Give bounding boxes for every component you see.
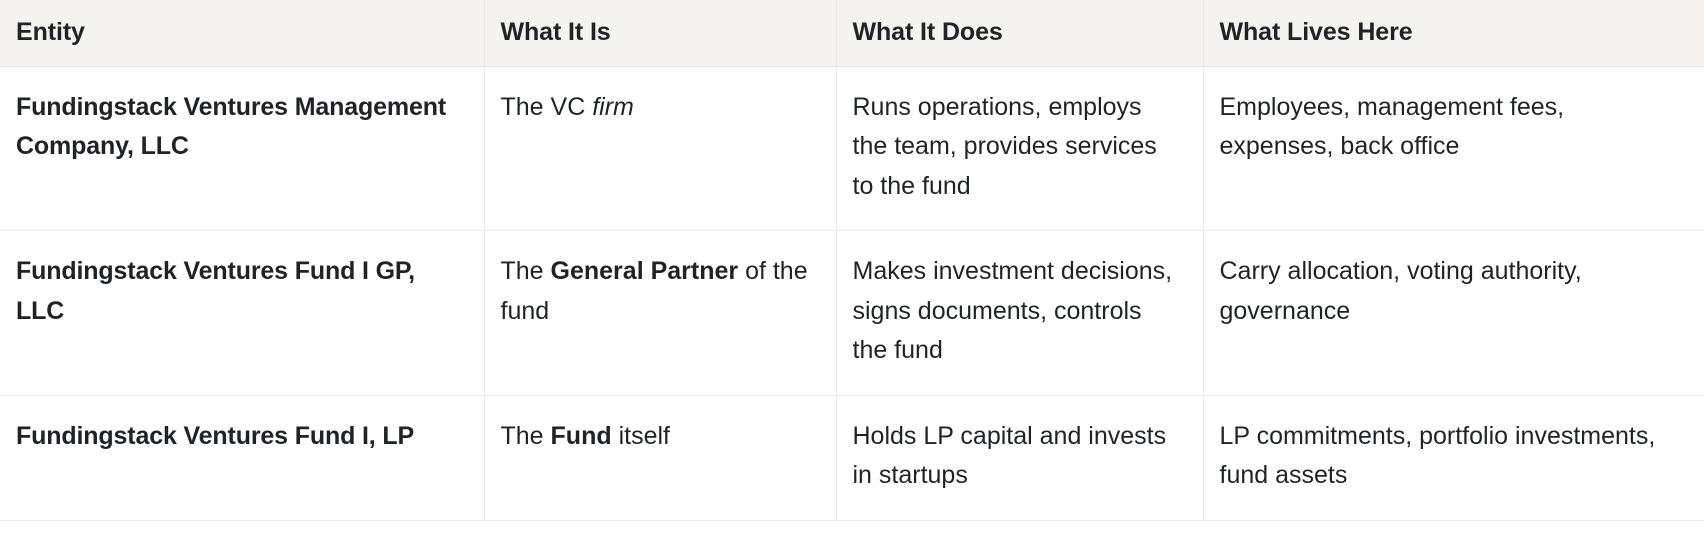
column-header-entity: Entity bbox=[0, 0, 484, 66]
column-header-what-it-does: What It Does bbox=[836, 0, 1203, 66]
table-row: Fundingstack Ventures Fund I, LP The Fun… bbox=[0, 395, 1704, 520]
cell-what-it-does: Makes investment decisions, signs docume… bbox=[836, 231, 1203, 396]
cell-what-it-does: Holds LP capital and invests in startups bbox=[836, 395, 1203, 520]
cell-what-it-is: The VC firm bbox=[484, 66, 836, 231]
cell-what-it-is: The General Partner of the fund bbox=[484, 231, 836, 396]
table-header-row: Entity What It Is What It Does What Live… bbox=[0, 0, 1704, 66]
cell-what-it-does: Runs operations, employs the team, provi… bbox=[836, 66, 1203, 231]
entity-structure-table: Entity What It Is What It Does What Live… bbox=[0, 0, 1704, 521]
table-row: Fundingstack Ventures Fund I GP, LLC The… bbox=[0, 231, 1704, 396]
cell-entity: Fundingstack Ventures Fund I, LP bbox=[0, 395, 484, 520]
table-row: Fundingstack Ventures Management Company… bbox=[0, 66, 1704, 231]
column-header-what-it-is: What It Is bbox=[484, 0, 836, 66]
cell-what-lives-here: LP commitments, portfolio investments, f… bbox=[1203, 395, 1704, 520]
cell-entity: Fundingstack Ventures Fund I GP, LLC bbox=[0, 231, 484, 396]
table-body: Fundingstack Ventures Management Company… bbox=[0, 66, 1704, 520]
cell-entity: Fundingstack Ventures Management Company… bbox=[0, 66, 484, 231]
table-header: Entity What It Is What It Does What Live… bbox=[0, 0, 1704, 66]
column-header-what-lives-here: What Lives Here bbox=[1203, 0, 1704, 66]
cell-what-lives-here: Employees, management fees, expenses, ba… bbox=[1203, 66, 1704, 231]
cell-what-it-is: The Fund itself bbox=[484, 395, 836, 520]
cell-what-lives-here: Carry allocation, voting authority, gove… bbox=[1203, 231, 1704, 396]
